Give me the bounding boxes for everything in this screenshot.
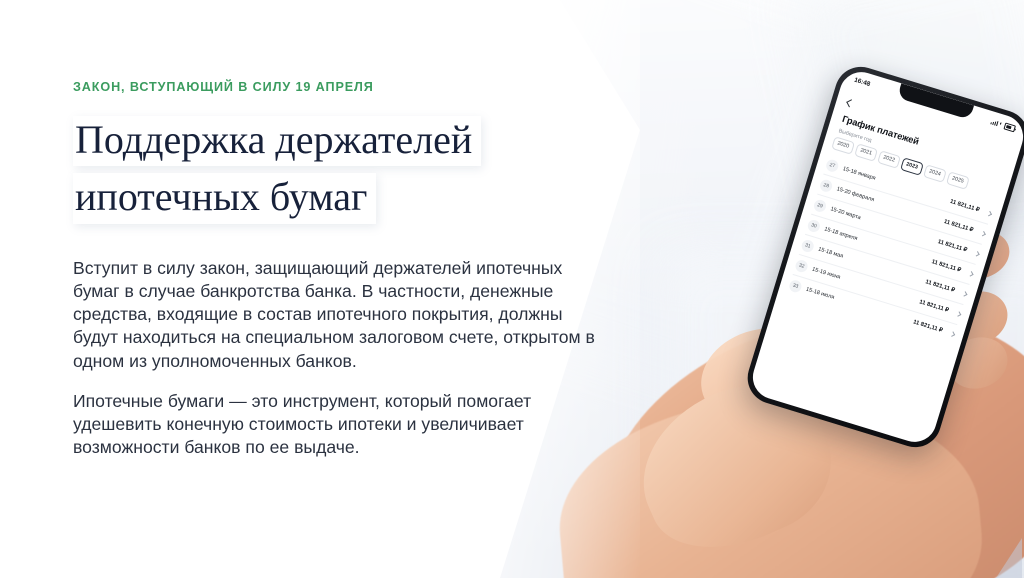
- text-content: ЗАКОН, ВСТУПАЮЩИЙ В СИЛУ 19 АПРЕЛЯ Подде…: [73, 0, 633, 460]
- payment-index: 33: [788, 279, 803, 294]
- slide-root: 16:48 ◐ График платежей Выберите год 202…: [0, 0, 1024, 578]
- status-icon-group: ◐: [990, 119, 1016, 133]
- headline-line-2: ипотечных бумаг: [73, 173, 376, 223]
- chevron-right-icon: [974, 251, 980, 257]
- status-time: 16:48: [853, 77, 871, 88]
- payment-index: 31: [800, 238, 815, 253]
- body-copy: Вступит в силу закон, защищающий держате…: [73, 257, 603, 460]
- payment-index: 29: [813, 198, 828, 213]
- payment-index: 32: [794, 258, 809, 273]
- chevron-right-icon: [986, 211, 992, 217]
- chevron-left-icon: [846, 99, 854, 107]
- paragraph: Ипотечные бумаги — это инструмент, котор…: [73, 390, 603, 460]
- headline-line-1: Поддержка держателей: [73, 116, 481, 166]
- chevron-right-icon: [949, 331, 955, 337]
- chevron-right-icon: [980, 231, 986, 237]
- chevron-right-icon: [961, 291, 967, 297]
- corner-triangle-accent: [996, 538, 1022, 578]
- payment-index: 27: [825, 158, 840, 173]
- battery-icon: [1003, 123, 1015, 133]
- signal-icon: [990, 119, 998, 126]
- page-title: Поддержка держателей ипотечных бумаг: [73, 116, 633, 231]
- payment-index: 28: [819, 178, 834, 193]
- eyebrow-label: ЗАКОН, ВСТУПАЮЩИЙ В СИЛУ 19 АПРЕЛЯ: [73, 80, 633, 94]
- chevron-right-icon: [955, 311, 961, 317]
- paragraph: Вступит в силу закон, защищающий держате…: [73, 257, 603, 373]
- chevron-right-icon: [968, 271, 974, 277]
- payment-index: 30: [806, 218, 821, 233]
- wifi-icon: ◐: [998, 122, 1003, 128]
